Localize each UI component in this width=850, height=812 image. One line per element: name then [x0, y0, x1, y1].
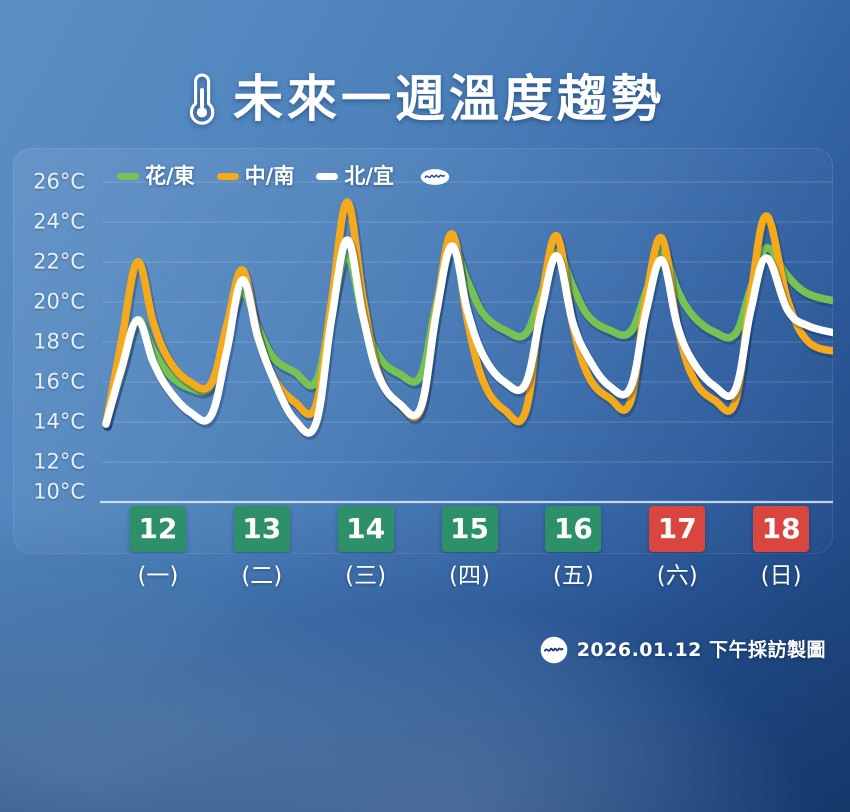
date-badges-row: 12 13 14 15 16 17 18 — [106, 506, 833, 552]
weekday-label-mon: (一) — [137, 562, 178, 596]
date-badge-15[interactable]: 15 — [442, 506, 498, 552]
date-cell: 12 — [106, 506, 210, 552]
y-axis: 26°C 24°C 22°C 20°C 18°C 16°C 14°C 12°C … — [13, 148, 93, 554]
y-tick-20: 20°C — [33, 292, 85, 313]
line-swatch-white-icon — [316, 173, 338, 180]
date-badge-18[interactable]: 18 — [753, 506, 809, 552]
chart-series-layer — [106, 202, 833, 435]
station-logo-icon — [540, 636, 568, 664]
date-badge-16[interactable]: 16 — [545, 506, 601, 552]
footer-credit: 2026.01.12 下午採訪製圖 — [540, 636, 826, 664]
date-cell: 18 — [729, 506, 833, 552]
legend-label-zhong-nan: 中/南 — [245, 166, 295, 187]
y-tick-16: 16°C — [33, 372, 85, 393]
weekday-cell: (六) — [625, 562, 729, 596]
date-cell: 13 — [210, 506, 314, 552]
chart-panel: 花/東 中/南 北/宜 26°C 24°C 22°C 20°C 18°C 16°… — [13, 148, 833, 554]
page-title-row: 未來一週溫度趨勢 — [0, 72, 850, 126]
legend-label-bei-yi: 北/宜 — [344, 166, 394, 187]
weekday-label-sun: (日) — [761, 562, 802, 596]
legend-label-hua-dong: 花/東 — [145, 166, 195, 187]
weekday-cell: (日) — [729, 562, 833, 596]
date-cell: 15 — [418, 506, 522, 552]
weekday-label-fri: (五) — [553, 562, 594, 596]
temperature-line-chart — [13, 148, 833, 554]
station-logo-icon — [420, 168, 450, 186]
line-swatch-green-icon — [117, 173, 139, 180]
page-title: 未來一週溫度趨勢 — [233, 74, 665, 124]
thermometer-icon — [185, 72, 219, 126]
legend-item-zhong-nan[interactable]: 中/南 — [217, 166, 295, 187]
weekday-cell: (二) — [210, 562, 314, 596]
weekday-cell: (一) — [106, 562, 210, 596]
y-tick-24: 24°C — [33, 212, 85, 233]
y-tick-26: 26°C — [33, 172, 85, 193]
date-cell: 14 — [314, 506, 418, 552]
date-badge-14[interactable]: 14 — [338, 506, 394, 552]
weekday-cell: (五) — [521, 562, 625, 596]
date-badge-12[interactable]: 12 — [130, 506, 186, 552]
date-badge-13[interactable]: 13 — [234, 506, 290, 552]
weekday-cell: (三) — [314, 562, 418, 596]
footer-text: 2026.01.12 下午採訪製圖 — [577, 641, 826, 660]
y-tick-12: 12°C — [33, 452, 85, 473]
temperature-plot — [13, 148, 833, 554]
weekday-label-tue: (二) — [241, 562, 282, 596]
legend-item-bei-yi[interactable]: 北/宜 — [316, 166, 394, 187]
y-tick-22: 22°C — [33, 252, 85, 273]
weekday-cell: (四) — [418, 562, 522, 596]
weekday-label-wed: (三) — [345, 562, 386, 596]
y-tick-14: 14°C — [33, 412, 85, 433]
date-badge-17[interactable]: 17 — [649, 506, 705, 552]
line-swatch-orange-icon — [217, 173, 239, 180]
date-cell: 17 — [625, 506, 729, 552]
weekday-label-thu: (四) — [449, 562, 490, 596]
legend-item-hua-dong[interactable]: 花/東 — [117, 166, 195, 187]
weekday-label-sat: (六) — [657, 562, 698, 596]
chart-legend: 花/東 中/南 北/宜 — [117, 166, 450, 187]
weather-forecast-infographic: 未來一週溫度趨勢 花/東 中/南 北/宜 26°C — [0, 0, 850, 812]
y-tick-10: 10°C — [33, 482, 85, 503]
date-cell: 16 — [521, 506, 625, 552]
y-tick-18: 18°C — [33, 332, 85, 353]
weekday-labels-row: (一) (二) (三) (四) (五) (六) (日) — [106, 562, 833, 596]
